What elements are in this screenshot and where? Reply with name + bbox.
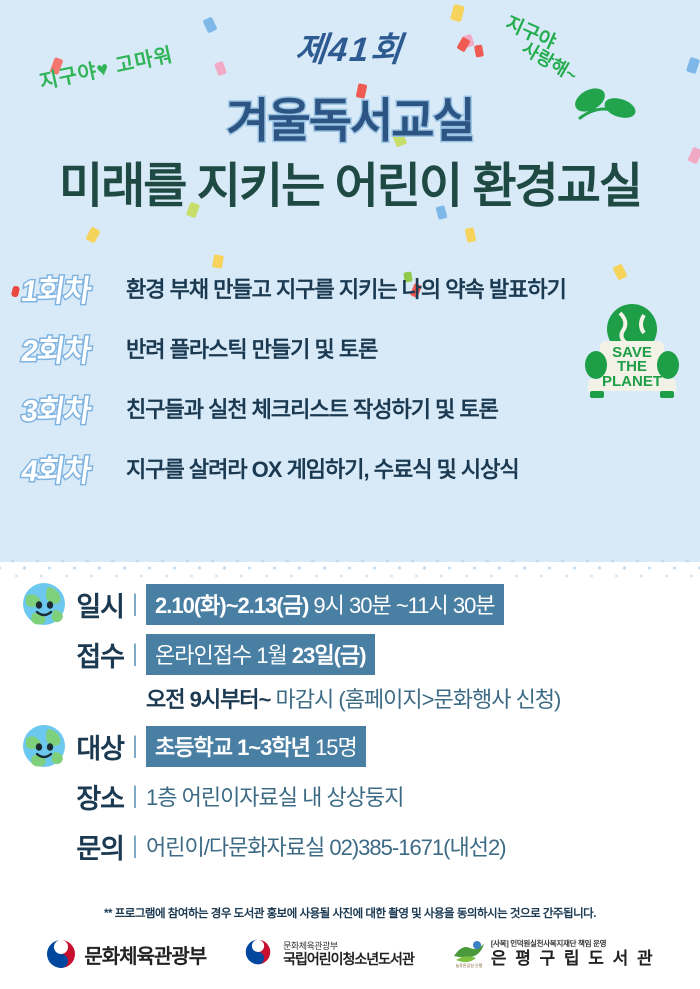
logo-mcst: 문화체육관광부 [45,938,206,970]
info-row-contact: 문의 | 어린이/다문화자료실 02)385-1671(내선2) [0,824,700,868]
poster-series-title: 겨울독서교실 [0,82,700,151]
datetime-light: 9시 30분 ~11시 30분 [313,593,494,618]
info-separator: | [124,732,146,760]
confetti-piece [450,4,465,22]
logo-mcst-label: 문화체육관광부 [84,940,206,969]
footer-note: ** 프로그램에 참여하는 경우 도서관 홍보에 사용될 사진에 대한 촬영 및… [0,905,700,921]
logo-eunpyeong-label: 은 평 구 립 도 서 관 [491,949,655,969]
session-description: 환경 부채 만들고 지구를 지키는 나의 약속 발표하기 [126,272,566,304]
registration-light: 온라인접수 1월 [155,643,287,668]
footer-logos: 문화체육관광부 문화체육관광부 국립어린이청소년도서관 늘푸른감성 은평 [사복… [0,938,700,970]
info-row-registration: 접수 | 온라인접수 1월 23일(금) [0,632,700,676]
info-separator: | [124,590,146,618]
session-badge: 3회차 [19,386,129,430]
info-value-registration: 온라인접수 1월 23일(금) [146,634,375,675]
info-value-place: 1층 어린이자료실 내 상상둥지 [146,780,403,812]
info-row-target: 대상 | 초등학교 1~3학년 15명 [0,724,700,768]
info-row-place: 장소 | 1층 어린이자료실 내 상상둥지 [0,774,700,818]
session-description: 지구를 살려라 OX 게임하기, 수료식 및 시상식 [126,452,519,484]
session-description: 반려 플라스틱 만들기 및 토론 [126,332,377,364]
poster-main-title: 미래를 지키는 어린이 환경교실 [0,146,700,216]
session-badge: 4회차 [19,446,129,490]
logo-eunpyeong: 늘푸른감성 은평 [사복] 인덕원실천사복지재단 책임 운영 은 평 구 립 도… [452,938,655,970]
target-bold: 초등학교 1~3학년 [155,735,310,760]
info-separator: | [124,832,146,860]
info-value-datetime: 2.10(화)~2.13(금) 9시 30분 ~11시 30분 [146,584,504,625]
registration-bold: 23일(금) [292,643,366,668]
section-divider [0,556,700,578]
logo-nlcy-label: 국립어린이청소년도서관 [283,951,414,967]
session-description: 친구들과 실천 체크리스트 작성하기 및 토론 [126,392,498,424]
taegeuk-icon [45,938,77,970]
datetime-highlight: 2.10(화)~2.13(금) 9시 30분 ~11시 30분 [146,584,504,625]
info-label-contact: 문의 [24,827,124,866]
registration-sub-line: 오전 9시부터~ 마감시 (홈페이지>문화행사 신청) [0,682,700,714]
save-the-planet-badge: SAVE THE PLANET [578,303,686,408]
eunpyeong-mark-icon: 늘푸른감성 은평 [452,938,484,970]
poster-edition: 제41회 [0,22,700,71]
earth-smiley-icon [22,724,66,768]
info-label-place: 장소 [24,777,124,816]
registration-sub-bold: 오전 9시부터~ [146,687,270,712]
logo-nlcy-sublabel: 문화체육관광부 [283,941,414,951]
taegeuk-icon [244,938,276,970]
logo-eunpyeong-text: [사복] 인덕원실천사복지재단 책임 운영 은 평 구 립 도 서 관 [491,940,655,968]
confetti-piece [85,226,100,243]
info-row-datetime: 일시 | 2.10(화)~2.13(금) 9시 30분 ~11시 30분 [0,582,700,626]
info-value-contact: 어린이/다문화자료실 02)385-1671(내선2) [146,830,506,862]
registration-highlight: 온라인접수 1월 23일(금) [146,634,375,675]
info-separator: | [124,782,146,810]
info-value-target: 초등학교 1~3학년 15명 [146,726,366,767]
eunpyeong-mark-caption: 늘푸른감성 은평 [455,962,482,968]
registration-sub-light: 마감시 (홈페이지>문화행사 신청) [276,687,561,712]
confetti-piece [465,227,477,243]
info-separator: | [124,640,146,668]
session-row: 4회차 지구를 살려라 OX 게임하기, 수료식 및 시상식 [0,438,700,498]
target-light: 15명 [315,735,357,760]
earth-smiley-icon [22,582,66,626]
logo-nlcy: 문화체육관광부 국립어린이청소년도서관 [244,938,414,970]
logo-eunpyeong-sublabel: [사복] 인덕원실천사복지재단 책임 운영 [491,940,655,949]
target-highlight: 초등학교 1~3학년 15명 [146,726,366,767]
info-section: 일시 | 2.10(화)~2.13(금) 9시 30분 ~11시 30분 접수 … [0,582,700,874]
badge-line-3: PLANET [602,373,662,390]
logo-nlcy-text: 문화체육관광부 국립어린이청소년도서관 [283,941,414,967]
session-badge: 2회차 [19,326,129,370]
info-label-registration: 접수 [24,635,124,674]
datetime-bold: 2.10(화)~2.13(금) [155,593,308,618]
bullet-dot-icon [11,285,20,297]
poster-header-section: 지구야♥ 고마워 지구야 사랑해~ 제41회 겨울독서교실 미래를 지키는 어린… [0,0,700,562]
session-badge: 1회차 [19,266,129,310]
